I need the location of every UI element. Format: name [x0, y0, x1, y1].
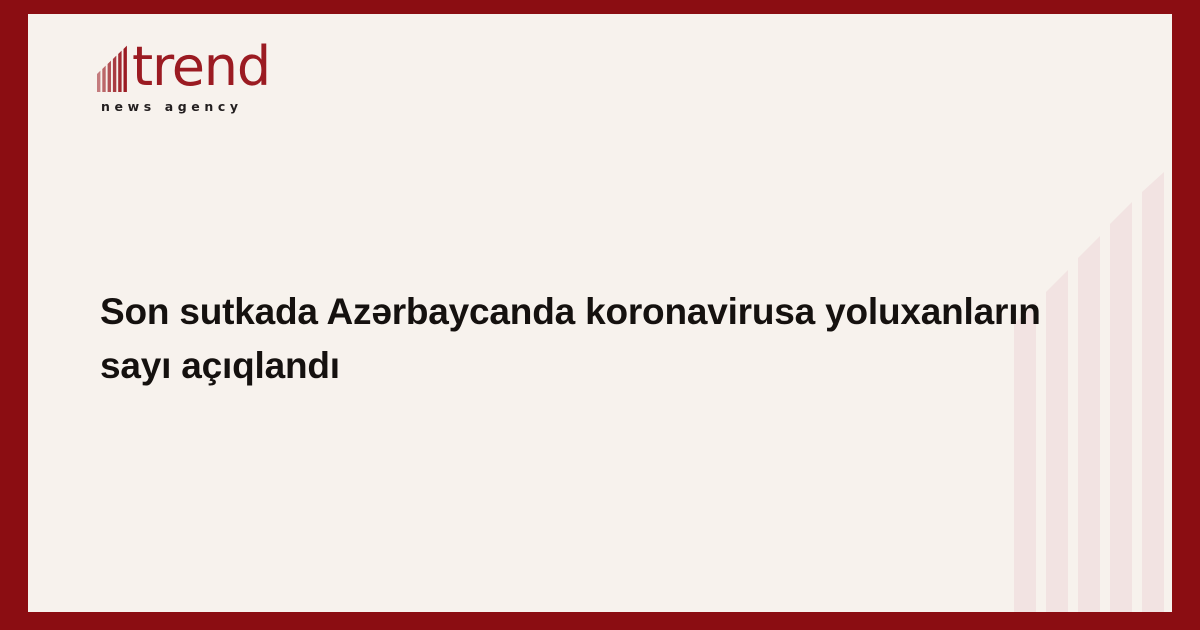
ascending-bars-icon — [97, 40, 131, 92]
logo-mark: trend — [97, 40, 297, 93]
card-canvas: trend news agency Son sutkada Azərbaycan… — [28, 14, 1172, 612]
brand-logo[interactable]: trend news agency — [97, 40, 297, 114]
brand-wordmark: trend — [132, 41, 270, 93]
brand-tagline: news agency — [101, 99, 297, 114]
social-share-card: trend news agency Son sutkada Azərbaycan… — [0, 0, 1200, 630]
article-headline: Son sutkada Azərbaycanda koronavirusa yo… — [100, 285, 1100, 393]
